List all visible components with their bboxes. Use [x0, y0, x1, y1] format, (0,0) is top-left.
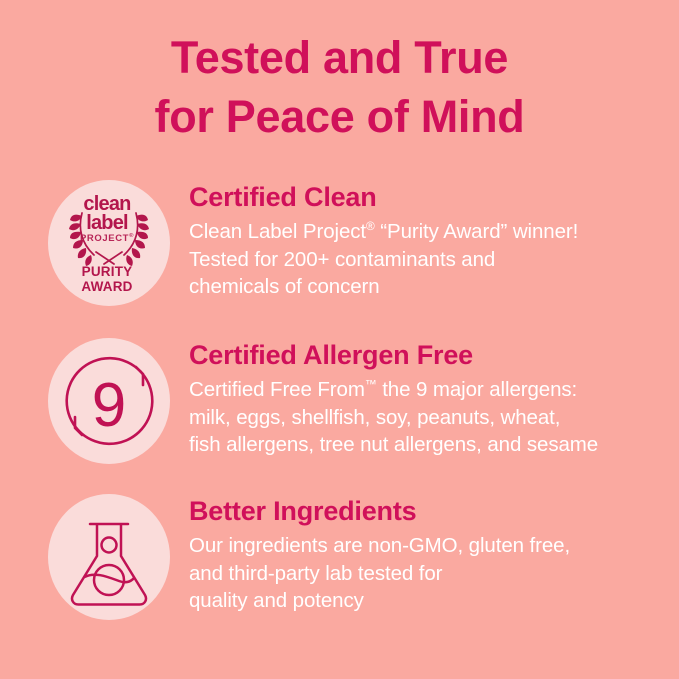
feature-body: Clean Label Project® “Purity Award” winn…	[189, 218, 578, 300]
icon-slot	[42, 492, 172, 622]
feature-text: Better Ingredients Our ingredients are n…	[172, 492, 570, 614]
page-title: Tested and True for Peace of Mind	[0, 28, 679, 147]
icon-slot: 9	[42, 336, 172, 466]
feature-body: Our ingredients are non-GMO, gluten free…	[189, 532, 570, 614]
feature-body: Certified Free From™ the 9 major allerge…	[189, 376, 598, 458]
clean-label-project-purity-award-badge-icon	[48, 180, 170, 306]
feature-body-line-1: Our ingredients are non-GMO, gluten free…	[189, 532, 570, 559]
trademark-mark: ™	[365, 377, 377, 391]
body-suffix: “Purity Award” winner!	[375, 220, 579, 243]
registered-mark: ®	[366, 219, 375, 233]
feature-text: Certified Allergen Free Certified Free F…	[172, 336, 598, 458]
feature-body-line-3: fish allergens, tree nut allergens, and …	[189, 431, 598, 458]
headline-line-2: for Peace of Mind	[0, 87, 679, 146]
feature-body-line-2: and third-party lab tested for	[189, 560, 570, 587]
headline-line-1: Tested and True	[0, 28, 679, 87]
feature-title: Better Ingredients	[189, 496, 570, 527]
body-suffix: the 9 major allergens:	[377, 378, 578, 401]
body-prefix: Clean Label Project	[189, 220, 366, 243]
feature-certified-clean: clean label PROJECT® PURITY AWARD Certif…	[42, 178, 642, 308]
feature-title: Certified Clean	[189, 182, 578, 213]
feature-body-line-3: quality and potency	[189, 587, 570, 614]
feature-certified-allergen-free: 9 Certified Allergen Free Certified Free…	[42, 336, 642, 466]
feature-body-line-1: Clean Label Project® “Purity Award” winn…	[189, 218, 578, 245]
no-allergens-nine-icon: 9	[48, 338, 170, 464]
icon-slot: clean label PROJECT® PURITY AWARD	[42, 178, 172, 308]
lab-flask-icon	[48, 494, 170, 620]
feature-text: Certified Clean Clean Label Project® “Pu…	[172, 178, 578, 300]
feature-title: Certified Allergen Free	[189, 340, 598, 371]
feature-better-ingredients: Better Ingredients Our ingredients are n…	[42, 492, 642, 622]
feature-body-line-1: Certified Free From™ the 9 major allerge…	[189, 376, 598, 403]
feature-body-line-2: milk, eggs, shellfish, soy, peanuts, whe…	[189, 404, 598, 431]
icon-numeral: 9	[92, 371, 126, 440]
body-prefix: Certified Free From	[189, 378, 365, 401]
marketing-poster: Tested and True for Peace of Mind	[0, 0, 679, 679]
feature-body-line-2: Tested for 200+ contaminants and	[189, 246, 578, 273]
feature-body-line-3: chemicals of concern	[189, 273, 578, 300]
